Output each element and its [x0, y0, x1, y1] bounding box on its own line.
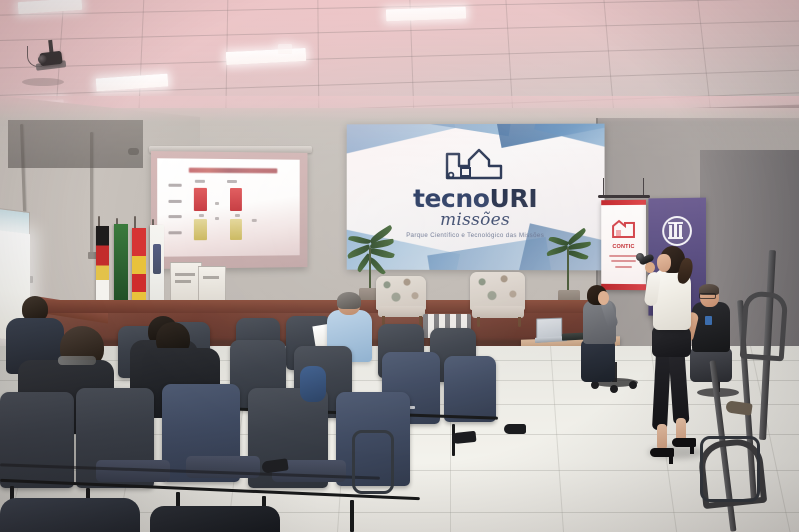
flag-item — [96, 226, 109, 308]
ceiling-light — [386, 7, 466, 22]
ceiling-light — [226, 48, 307, 65]
banner-cord — [603, 178, 604, 196]
banner-bottom-bar — [601, 284, 646, 290]
slide-title-text — [189, 167, 277, 173]
chair-armrest — [352, 430, 394, 494]
flag-emblem-icon — [153, 244, 161, 274]
banner-hanging-rod — [598, 195, 650, 198]
eyeglasses-icon — [699, 293, 716, 299]
speaker-hand — [645, 262, 655, 273]
event-logo-icon — [610, 218, 638, 245]
audience-knee — [300, 366, 326, 402]
tecnouri-logo-icon — [439, 144, 511, 189]
blue-shirt-hair — [337, 292, 361, 309]
slide-block-yellow — [194, 219, 207, 241]
flag-item — [132, 228, 146, 310]
chair-caster-icon — [610, 385, 618, 393]
seated-shoe — [504, 424, 526, 434]
chair-leg — [350, 500, 354, 532]
banner-cord — [643, 178, 644, 196]
black-tshirt-torso — [692, 302, 730, 352]
banner-top-bar — [601, 200, 646, 205]
operator-legs — [581, 340, 615, 382]
chair-armrest — [700, 436, 760, 502]
under-screen-shadow — [8, 120, 143, 168]
projector-lens-icon — [38, 55, 47, 64]
slide-block-yellow — [230, 219, 243, 240]
name-badge — [705, 316, 712, 325]
potted-plant — [548, 234, 592, 306]
auditorium-photo-scene: tecnoURI missões Parque Científico e Tec… — [0, 0, 799, 532]
chair-caster-icon — [591, 381, 599, 389]
microphone-head-icon — [636, 253, 644, 261]
event-roll-up-banner: CONTIC — [601, 200, 646, 290]
slide-block-red — [230, 188, 243, 211]
flag-item — [114, 224, 128, 310]
high-heel-shoe — [690, 442, 694, 454]
chair-caster-icon — [629, 381, 637, 389]
slide-block-red — [194, 188, 207, 211]
stage-armchair — [468, 272, 530, 328]
university-crest-icon — [662, 216, 692, 246]
ceiling-light — [96, 74, 169, 92]
operator-face — [598, 291, 609, 305]
collar — [58, 356, 96, 365]
high-heel-shoe — [669, 452, 673, 464]
event-banner-word: CONTIC — [601, 244, 646, 250]
ceiling-vent — [22, 78, 64, 86]
wall-upper-tint — [0, 96, 799, 122]
speaker-face — [657, 254, 671, 272]
metal-rack-loop — [740, 291, 789, 362]
ceiling-light — [278, 44, 292, 54]
speaker-calf — [657, 424, 667, 450]
stage-armchair — [374, 276, 430, 326]
banner-title: tecnoURI — [347, 186, 605, 211]
